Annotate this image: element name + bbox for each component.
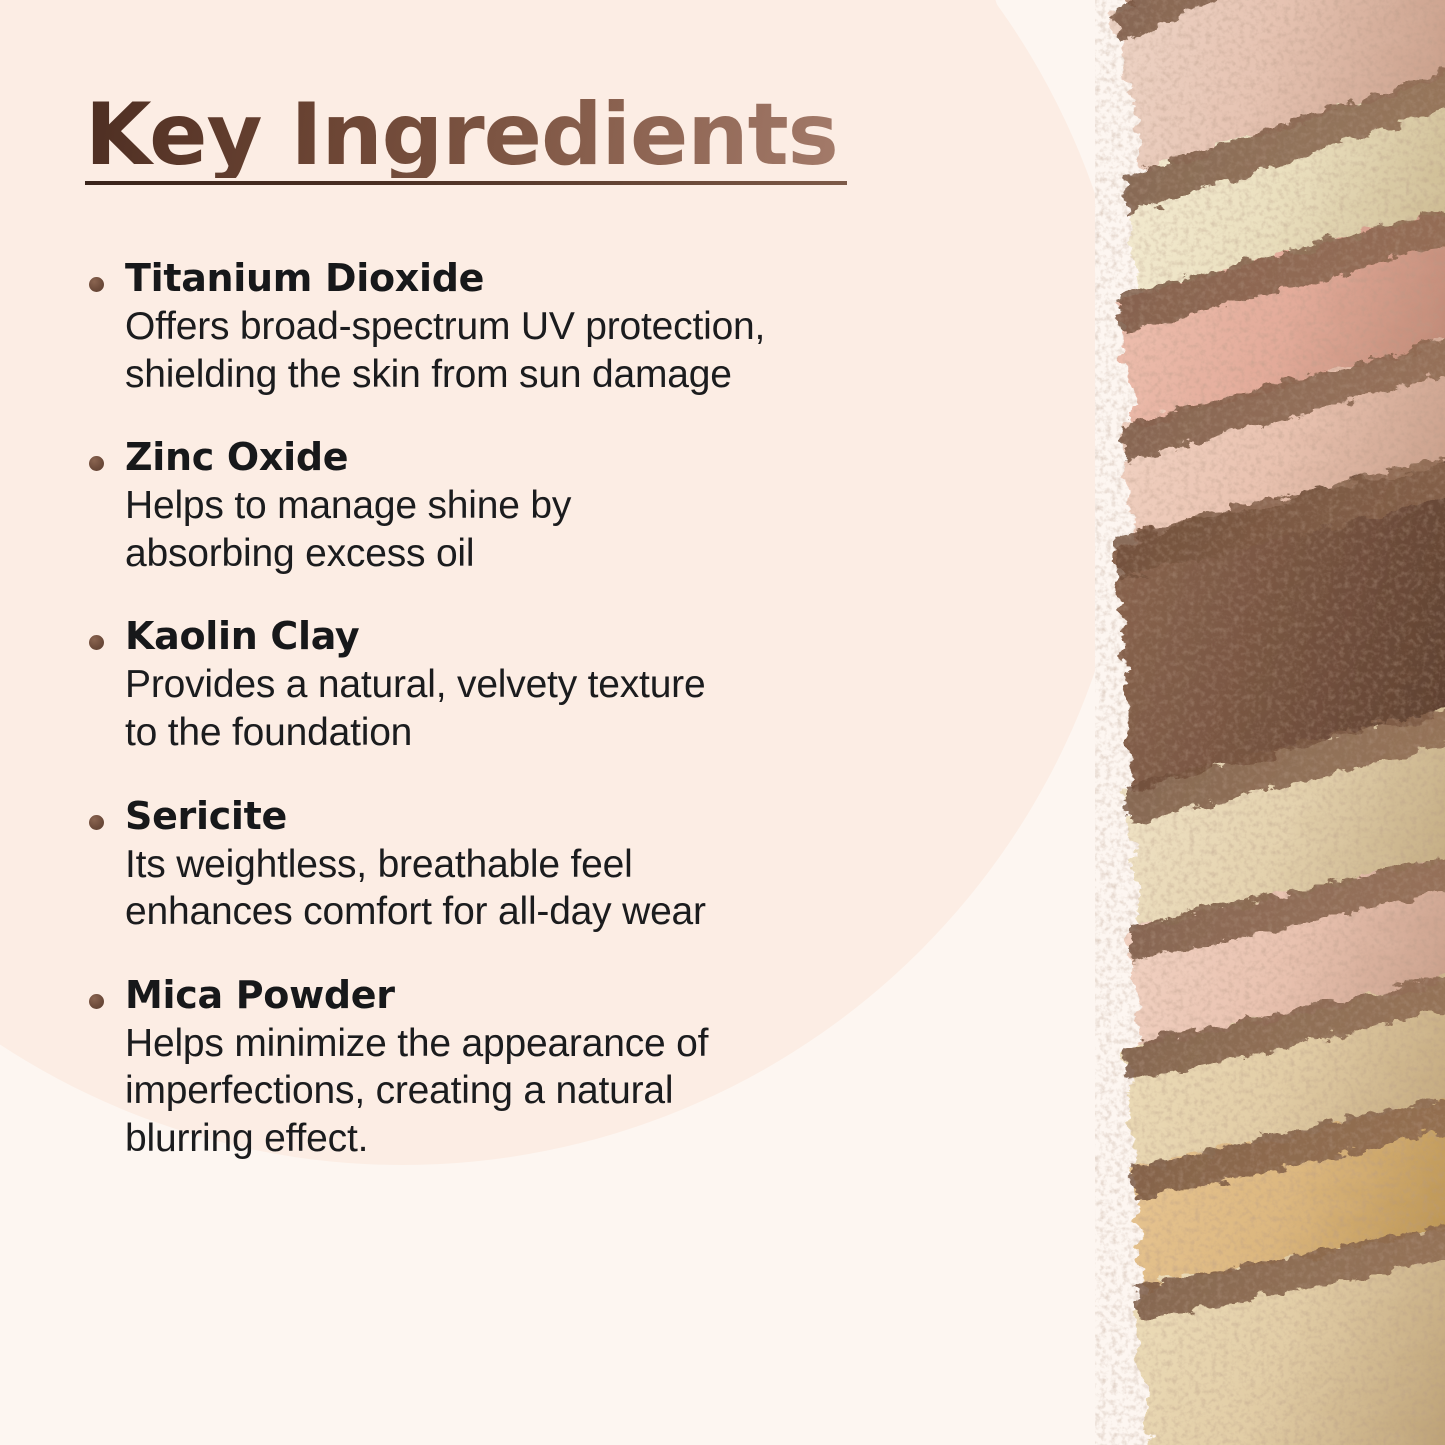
key-ingredients-page: Key Ingredients Titanium Dioxide Offers …: [0, 0, 1445, 1445]
ingredient-description: Offers broad-spectrum UV protection, shi…: [125, 303, 1045, 398]
page-title: Key Ingredients: [85, 92, 838, 178]
list-item: Mica Powder Helps minimize the appearanc…: [85, 975, 1045, 1163]
bullet-dot-icon: [89, 456, 104, 471]
ingredient-name: Zinc Oxide: [125, 437, 1045, 478]
ingredient-name: Kaolin Clay: [125, 616, 1045, 657]
ingredient-description: Helps minimize the appearance of imperfe…: [125, 1020, 1045, 1163]
list-item: Zinc Oxide Helps to manage shine by abso…: [85, 437, 1045, 577]
ingredient-name: Sericite: [125, 796, 1045, 837]
list-item: Kaolin Clay Provides a natural, velvety …: [85, 616, 1045, 756]
ingredient-description: Its weightless, breathable feel enhances…: [125, 841, 1045, 936]
bullet-dot-icon: [89, 994, 104, 1009]
bullet-dot-icon: [89, 635, 104, 650]
bullet-dot-icon: [89, 815, 104, 830]
ingredients-list: Titanium Dioxide Offers broad-spectrum U…: [85, 258, 1045, 1163]
ingredient-name: Mica Powder: [125, 975, 1045, 1016]
content-column: Key Ingredients Titanium Dioxide Offers …: [0, 0, 1090, 1445]
powder-swatch-strip: [1095, 0, 1445, 1445]
page-title-wrapper: Key Ingredients: [85, 92, 985, 178]
ingredient-description: Helps to manage shine by absorbing exces…: [125, 482, 1045, 577]
list-item: Sericite Its weightless, breathable feel…: [85, 796, 1045, 936]
ingredient-description: Provides a natural, velvety texture to t…: [125, 661, 1045, 756]
title-underline: [85, 181, 847, 185]
bullet-dot-icon: [89, 277, 104, 292]
list-item: Titanium Dioxide Offers broad-spectrum U…: [85, 258, 1045, 398]
ingredient-name: Titanium Dioxide: [125, 258, 1045, 299]
